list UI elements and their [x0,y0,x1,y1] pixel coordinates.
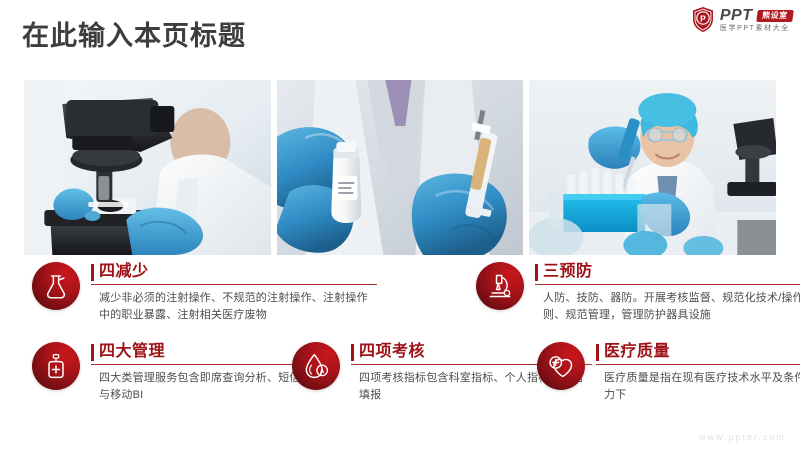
heart-plus-icon [537,342,585,390]
photo-vaccine-vial [277,80,524,255]
photo-strip [24,80,776,255]
info-title: 四减少 [99,263,377,281]
info-text-block: 医疗质量 医疗质量是指在现有医疗技术水平及条件、能力下 [596,342,800,404]
logo-brand: PPT [720,8,753,24]
info-heading: 四减少 [91,263,377,285]
info-item-four-reductions[interactable]: 四减少 减少非必须的注射操作、不规范的注射操作、注射操作中的职业暴露、注射相关医… [32,262,377,324]
site-watermark: www.ppter.com [699,432,786,442]
svg-text:A: A [320,368,325,375]
info-item-three-preventions[interactable]: 三预防 人防、技防、器防。开展考核监督、规范化技术/操作规则、规范管理，管理防护… [476,262,800,324]
photo-microscope [24,80,271,255]
logo-badge: 熊设室 [756,10,793,22]
logo-tagline: 医学PPT素材大全 [720,25,792,32]
brand-logo: P PPT 熊设室 医学PPT素材大全 [691,6,792,33]
slide-root: 在此输入本页标题 P PPT 熊设室 医学PPT素材大全 [0,0,800,450]
info-heading: 三预防 [535,263,800,285]
microscope-icon [476,262,524,310]
shield-icon: P [691,6,715,33]
info-description: 医疗质量是指在现有医疗技术水平及条件、能力下 [596,370,800,404]
blood-drop-icon: A [292,342,340,390]
info-text-block: 三预防 人防、技防、器防。开展考核监督、规范化技术/操作规则、规范管理，管理防护… [535,262,800,324]
page-title: 在此输入本页标题 [22,22,246,52]
info-description: 减少非必须的注射操作、不规范的注射操作、注射操作中的职业暴露、注射相关医疗废物 [91,290,377,324]
logo-text-block: PPT 熊设室 医学PPT素材大全 [720,8,792,32]
svg-text:P: P [700,13,706,23]
photo-test-tubes [529,80,776,255]
info-grid: 四减少 减少非必须的注射操作、不规范的注射操作、注射操作中的职业暴露、注射相关医… [24,262,776,422]
info-item-four-managements[interactable]: 四大管理 四大类管理服务包含即席查询分析、短信快报与移动BI [32,342,332,404]
info-heading: 医疗质量 [596,343,800,365]
logo-primary-row: PPT 熊设室 [720,8,792,24]
flask-icon [32,262,80,310]
info-description: 人防、技防、器防。开展考核监督、规范化技术/操作规则、规范管理，管理防护器具设施 [535,290,800,324]
info-item-medical-quality[interactable]: 医疗质量 医疗质量是指在现有医疗技术水平及条件、能力下 [537,342,800,404]
info-title: 三预防 [543,263,800,281]
info-title: 医疗质量 [604,343,800,361]
medicine-bottle-icon [32,342,80,390]
info-text-block: 四减少 减少非必须的注射操作、不规范的注射操作、注射操作中的职业暴露、注射相关医… [91,262,377,324]
